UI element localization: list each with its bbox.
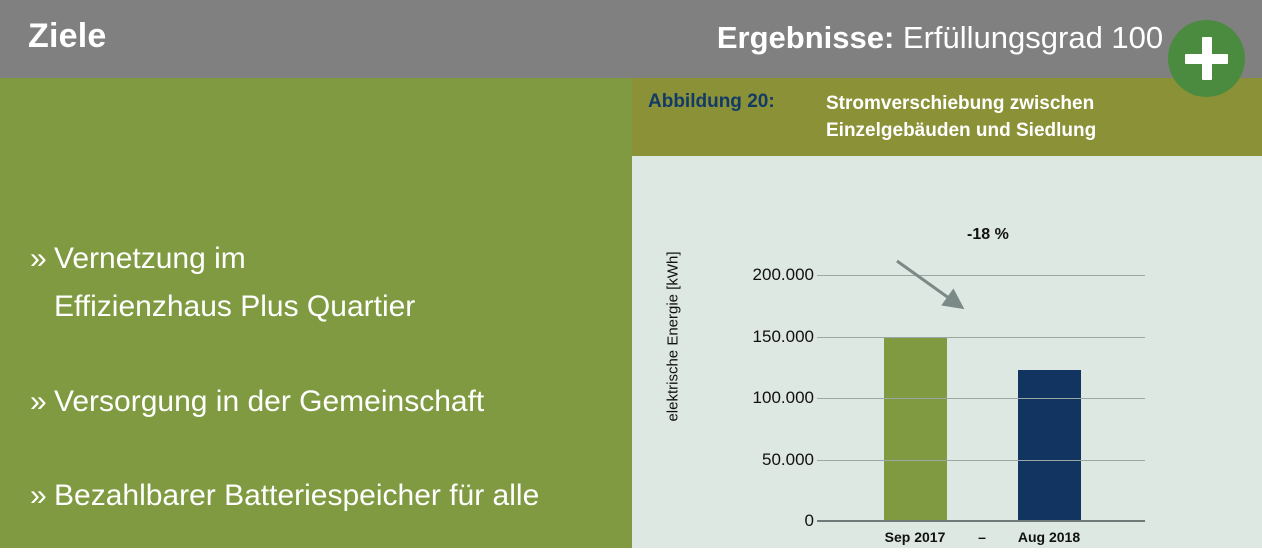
plus-icon-vertical bbox=[1202, 37, 1212, 80]
gridline bbox=[817, 460, 1145, 461]
chart-annotation-label: -18 % bbox=[967, 226, 1009, 244]
gridline bbox=[817, 275, 1145, 276]
slide: Ziele Ergebnisse: Erfüllungsgrad 100 »Ve… bbox=[0, 0, 1262, 548]
bullet-marker: » bbox=[30, 235, 54, 282]
list-item: »Maximierung des Eigenverbrauchs bbox=[30, 520, 620, 548]
figure-panel: Abbildung 20: Stromverschiebung zwischen… bbox=[632, 78, 1262, 548]
figure-title: Stromverschiebung zwischen Einzelgebäude… bbox=[826, 91, 1246, 145]
list-item-label: Vernetzung im Effizienzhaus Plus Quartie… bbox=[54, 235, 415, 330]
results-title-strong: Ergebnisse: bbox=[717, 20, 894, 55]
list-item-label: Versorgung in der Gemeinschaft bbox=[54, 385, 484, 418]
y-axis-title: elektrische Energie [kWh] bbox=[665, 222, 682, 452]
bullet-marker: » bbox=[30, 378, 54, 425]
x-axis-tick-label: Aug 2018 bbox=[1018, 529, 1080, 545]
y-axis-tick-label: 150.000 bbox=[694, 327, 814, 347]
y-axis-tick-label: 50.000 bbox=[694, 450, 814, 470]
bullet-marker: » bbox=[30, 472, 54, 519]
bar-1 bbox=[884, 337, 947, 522]
x-axis-separator: – bbox=[978, 529, 986, 545]
figure-number-label: Abbildung 20: bbox=[648, 91, 775, 113]
page-title-goals: Ziele bbox=[28, 17, 106, 56]
bar-chart: elektrische Energie [kWh] 050.000100.000… bbox=[632, 156, 1262, 548]
y-axis-tick-label: 100.000 bbox=[694, 388, 814, 408]
results-title-rest: Erfüllungsgrad 100 bbox=[894, 20, 1163, 55]
list-item: »Vernetzung im Effizienzhaus Plus Quarti… bbox=[30, 188, 620, 330]
list-item: »Versorgung in der Gemeinschaft bbox=[30, 330, 620, 425]
y-axis-ticks: 050.000100.000150.000200.000 bbox=[680, 156, 814, 548]
list-item-label: Bezahlbarer Batteriespeicher für alle bbox=[54, 479, 539, 512]
goals-panel: »Vernetzung im Effizienzhaus Plus Quarti… bbox=[0, 78, 632, 548]
x-axis-line bbox=[817, 520, 1145, 522]
gridline bbox=[817, 398, 1145, 399]
header-bar: Ziele Ergebnisse: Erfüllungsgrad 100 bbox=[0, 0, 1262, 78]
page-title-results: Ergebnisse: Erfüllungsgrad 100 bbox=[640, 20, 1240, 56]
x-axis-tick-label: Sep 2017 bbox=[885, 529, 946, 545]
y-axis-tick-label: 0 bbox=[694, 511, 814, 531]
plot-area: -18 % bbox=[817, 156, 1145, 548]
decrease-arrow-icon bbox=[817, 156, 1145, 548]
list-item: »Bezahlbarer Batteriespeicher für alle bbox=[30, 425, 620, 520]
goals-list: »Vernetzung im Effizienzhaus Plus Quarti… bbox=[30, 188, 620, 548]
y-axis-tick-label: 200.000 bbox=[694, 265, 814, 285]
bar-2 bbox=[1018, 370, 1081, 521]
gridline bbox=[817, 337, 1145, 338]
add-button[interactable] bbox=[1168, 20, 1245, 97]
figure-caption-band: Abbildung 20: Stromverschiebung zwischen… bbox=[632, 78, 1262, 156]
